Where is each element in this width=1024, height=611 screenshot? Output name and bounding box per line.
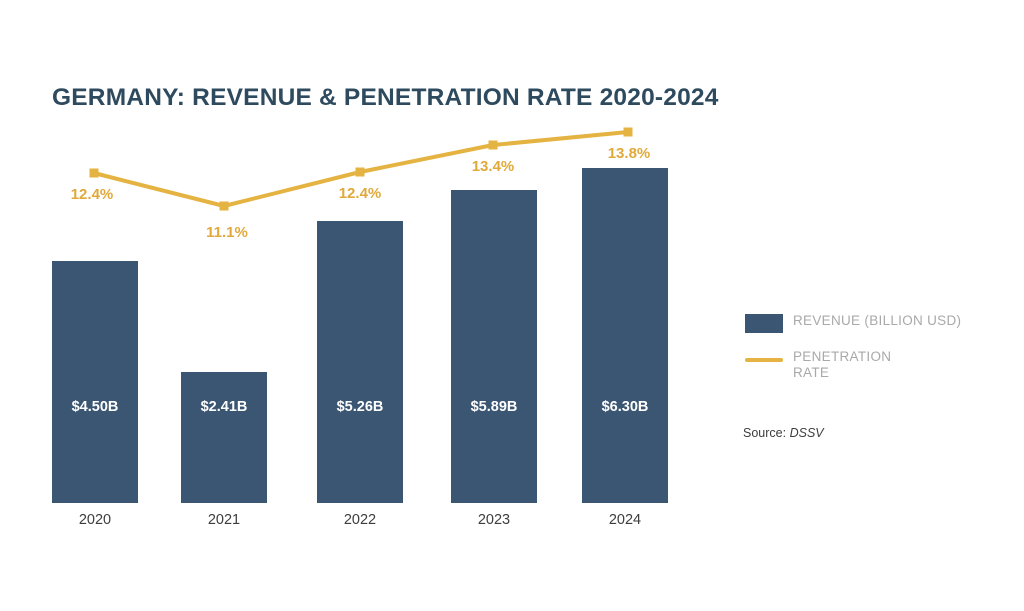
rate-value-label-2021: 11.1%: [206, 224, 248, 241]
category-label-2020: 2020: [79, 512, 111, 528]
bars-group: [52, 168, 668, 503]
bar-2023[interactable]: [451, 190, 537, 503]
legend-item-penetration-rate[interactable]: PENETRATION RATE: [745, 349, 1000, 381]
legend-label-penetration-rate: PENETRATION RATE: [793, 349, 891, 381]
chart-svg: $4.50B$2.41B$5.26B$5.89B$6.30B 12.4%11.1…: [0, 0, 720, 560]
rate-marker-2024[interactable]: [624, 128, 633, 137]
rate-value-label-2022: 12.4%: [339, 185, 382, 202]
revenue-swatch-icon: [745, 314, 783, 333]
rate-value-label-2023: 13.4%: [472, 158, 515, 175]
category-label-2021: 2021: [208, 512, 240, 528]
bar-2020[interactable]: [52, 261, 138, 503]
category-axis-labels: 20202021202220232024: [79, 512, 641, 528]
bar-value-label-2020: $4.50B: [72, 399, 119, 415]
rate-marker-2021[interactable]: [220, 202, 229, 211]
category-label-2024: 2024: [609, 512, 641, 528]
bar-2021[interactable]: [181, 372, 267, 503]
bar-2024[interactable]: [582, 168, 668, 503]
rate-marker-2023[interactable]: [489, 141, 498, 150]
plot-area: $4.50B$2.41B$5.26B$5.89B$6.30B 12.4%11.1…: [0, 0, 720, 560]
bar-value-label-2022: $5.26B: [337, 399, 384, 415]
legend-label-revenue: REVENUE (BILLION USD): [793, 313, 961, 329]
source-value: DSSV: [790, 426, 824, 440]
source-prefix: Source:: [743, 426, 786, 440]
rate-swatch-wrap: [745, 350, 783, 369]
source-note: Source: DSSV: [743, 426, 824, 440]
bar-value-label-2024: $6.30B: [602, 399, 649, 415]
chart-legend: REVENUE (BILLION USD) PENETRATION RATE: [745, 313, 1000, 397]
category-label-2022: 2022: [344, 512, 376, 528]
bar-value-label-2023: $5.89B: [471, 399, 518, 415]
rate-value-label-2024: 13.8%: [608, 145, 651, 162]
rate-marker-2022[interactable]: [356, 168, 365, 177]
chart-canvas: GERMANY: REVENUE & PENETRATION RATE 2020…: [0, 0, 1024, 611]
rate-value-label-2020: 12.4%: [71, 186, 114, 203]
legend-item-revenue[interactable]: REVENUE (BILLION USD): [745, 313, 1000, 333]
penetration-rate-line-icon: [745, 358, 783, 362]
rate-marker-2020[interactable]: [90, 169, 99, 178]
bar-value-label-2021: $2.41B: [201, 399, 248, 415]
category-label-2023: 2023: [478, 512, 510, 528]
bar-2022[interactable]: [317, 221, 403, 503]
bar-value-labels: $4.50B$2.41B$5.26B$5.89B$6.30B: [72, 399, 649, 415]
